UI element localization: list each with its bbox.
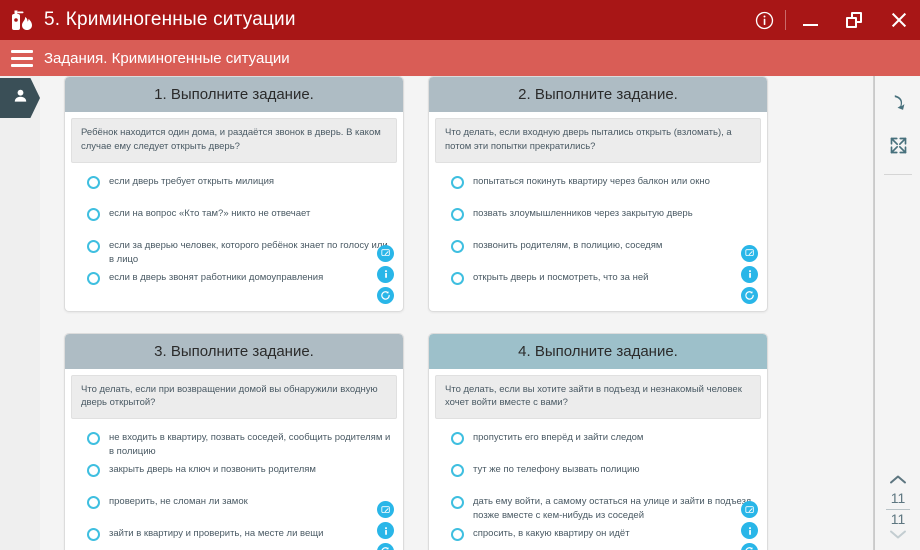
radio-button[interactable] [451, 432, 464, 445]
option-label: не входить в квартиру, позвать соседей, … [109, 431, 393, 460]
radio-button[interactable] [451, 496, 464, 509]
option-row[interactable]: если за дверью человек, которого ребёнок… [87, 239, 393, 269]
card-header: 3. Выполните задание. [65, 334, 403, 369]
current-page-number: 11 [891, 490, 906, 508]
task-content-area: 1. Выполните задание. Ребёнок находится … [40, 76, 874, 550]
fullscreen-expand-icon[interactable] [875, 124, 920, 166]
radio-button[interactable] [451, 240, 464, 253]
option-row[interactable]: проверить, не сломан ли замок [87, 495, 393, 525]
close-icon[interactable] [876, 0, 920, 40]
option-label: тут же по телефону вызвать полицию [473, 463, 639, 477]
option-row[interactable]: попытаться покинуть квартиру через балко… [451, 175, 757, 205]
option-row[interactable]: зайти в квартиру и проверить, на месте л… [87, 527, 393, 550]
task-card: 1. Выполните задание. Ребёнок находится … [64, 76, 404, 312]
control-divider [785, 10, 786, 30]
option-label: если за дверью человек, которого ребёнок… [109, 239, 393, 268]
note-edit-icon[interactable] [377, 501, 394, 518]
options-list: пропустить его вперёд и зайти следом тут… [429, 419, 767, 550]
option-row[interactable]: если в дверь звонят работники домоуправл… [87, 271, 393, 301]
card-header: 2. Выполните задание. [429, 77, 767, 112]
option-label: проверить, не сломан ли замок [109, 495, 248, 509]
note-edit-icon[interactable] [377, 245, 394, 262]
question-text: Что делать, если при возвращении домой в… [71, 375, 397, 420]
reset-icon[interactable] [741, 543, 758, 550]
task-card: 4. Выполните задание. Что делать, если в… [428, 333, 768, 550]
note-edit-icon[interactable] [741, 245, 758, 262]
sub-header-bar: Задания. Криминогенные ситуации [0, 40, 920, 76]
radio-button[interactable] [87, 528, 100, 541]
option-label: закрыть дверь на ключ и позвонить родите… [109, 463, 316, 477]
total-pages-number: 11 [891, 511, 906, 529]
info-icon[interactable] [743, 0, 785, 40]
question-text: Ребёнок находится один дома, и раздаётся… [71, 118, 397, 163]
radio-button[interactable] [451, 176, 464, 189]
application-window: 5. Криминогенные ситуации [0, 0, 920, 550]
radio-button[interactable] [87, 432, 100, 445]
title-bar: 5. Криминогенные ситуации [0, 0, 920, 40]
card-action-buttons [377, 501, 394, 550]
option-label: открыть дверь и посмотреть, что за ней [473, 271, 648, 285]
radio-button[interactable] [451, 464, 464, 477]
options-list: не входить в квартиру, позвать соседей, … [65, 419, 403, 550]
page-navigator: 11 11 [875, 473, 920, 545]
task-card: 3. Выполните задание. Что делать, если п… [64, 333, 404, 550]
undo-arrow-icon[interactable] [875, 82, 920, 124]
option-label: если в дверь звонят работники домоуправл… [109, 271, 323, 285]
reset-icon[interactable] [377, 287, 394, 304]
info-icon[interactable] [741, 522, 758, 539]
chevron-down-icon[interactable] [888, 528, 908, 545]
radio-button[interactable] [87, 208, 100, 221]
task-card-grid: 1. Выполните задание. Ребёнок находится … [64, 76, 810, 550]
option-row[interactable]: спросить, в какую квартиру он идёт [451, 527, 757, 550]
chevron-up-icon[interactable] [888, 473, 908, 490]
radio-button[interactable] [451, 272, 464, 285]
info-icon[interactable] [741, 266, 758, 283]
option-row[interactable]: не входить в квартиру, позвать соседей, … [87, 431, 393, 461]
info-icon[interactable] [377, 266, 394, 283]
window-controls [743, 0, 920, 40]
right-toolbar: 11 11 [874, 76, 920, 550]
question-text: Что делать, если вы хотите зайти в подъе… [435, 375, 761, 420]
option-row[interactable]: закрыть дверь на ключ и позвонить родите… [87, 463, 393, 493]
option-label: если на вопрос «Кто там?» никто не отвеч… [109, 207, 310, 221]
reset-icon[interactable] [377, 543, 394, 550]
option-row[interactable]: если дверь требует открыть милиция [87, 175, 393, 205]
option-label: дать ему войти, а самому остаться на ули… [473, 495, 757, 524]
minimize-icon[interactable] [788, 0, 832, 40]
option-row[interactable]: пропустить его вперёд и зайти следом [451, 431, 757, 461]
radio-button[interactable] [87, 176, 100, 189]
option-label: попытаться покинуть квартиру через балко… [473, 175, 710, 189]
radio-button[interactable] [451, 528, 464, 541]
option-row[interactable]: если на вопрос «Кто там?» никто не отвеч… [87, 207, 393, 237]
option-label: спросить, в какую квартиру он идёт [473, 527, 630, 541]
info-icon[interactable] [377, 522, 394, 539]
window-title: 5. Криминогенные ситуации [44, 9, 296, 31]
option-label: позвать злоумышленников через закрытую д… [473, 207, 693, 221]
option-label: если дверь требует открыть милиция [109, 175, 274, 189]
reset-icon[interactable] [741, 287, 758, 304]
toolbar-rail [873, 76, 874, 550]
radio-button[interactable] [87, 240, 100, 253]
user-icon [13, 88, 28, 108]
task-card: 2. Выполните задание. Что делать, если в… [428, 76, 768, 312]
card-header: 1. Выполните задание. [65, 77, 403, 112]
left-gutter [0, 76, 40, 550]
note-edit-icon[interactable] [741, 501, 758, 518]
options-list: если дверь требует открыть милиция если … [65, 163, 403, 311]
restore-icon[interactable] [832, 0, 876, 40]
option-label: пропустить его вперёд и зайти следом [473, 431, 643, 445]
question-text: Что делать, если входную дверь пытались … [435, 118, 761, 163]
card-action-buttons [377, 245, 394, 304]
option-row[interactable]: тут же по телефону вызвать полицию [451, 463, 757, 493]
option-row[interactable]: открыть дверь и посмотреть, что за ней [451, 271, 757, 301]
fire-extinguisher-icon [0, 0, 44, 40]
radio-button[interactable] [87, 464, 100, 477]
card-header: 4. Выполните задание. [429, 334, 767, 369]
option-row[interactable]: позвонить родителям, в полицию, соседям [451, 239, 757, 269]
page-divider [886, 509, 910, 510]
option-label: позвонить родителям, в полицию, соседям [473, 239, 662, 253]
option-row[interactable]: позвать злоумышленников через закрытую д… [451, 207, 757, 237]
hamburger-menu-icon[interactable] [0, 40, 44, 76]
radio-button[interactable] [451, 208, 464, 221]
card-action-buttons [741, 245, 758, 304]
card-action-buttons [741, 501, 758, 550]
breadcrumb: Задания. Криминогенные ситуации [44, 50, 290, 67]
options-list: попытаться покинуть квартиру через балко… [429, 163, 767, 311]
radio-button[interactable] [87, 496, 100, 509]
option-row[interactable]: дать ему войти, а самому остаться на ули… [451, 495, 757, 525]
radio-button[interactable] [87, 272, 100, 285]
toolbar-divider [884, 174, 912, 175]
option-label: зайти в квартиру и проверить, на месте л… [109, 527, 323, 541]
